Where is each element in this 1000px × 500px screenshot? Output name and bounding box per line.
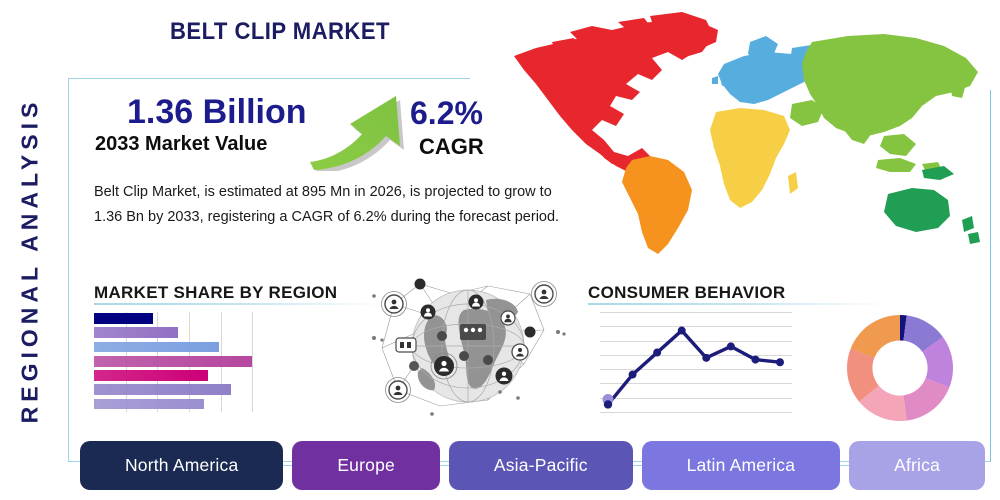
bar-chart-bar [94,342,219,353]
consumer-behavior-heading-rule [588,303,888,305]
tab-connector [840,465,849,467]
tab-connector [633,465,642,467]
bar-chart-bar-fill [94,356,252,367]
bar-chart-bar-fill [94,313,153,324]
page-title: BELT CLIP MARKET [170,18,390,46]
bar-chart-bar [94,356,252,367]
side-label-text: REGIONAL ANALYSIS [17,97,44,423]
tab-connector [440,465,449,467]
map-madagascar [788,172,798,194]
globe-network-icon [368,272,568,420]
map-se-asia [880,134,916,156]
region-tab-africa[interactable]: Africa [849,441,985,490]
consumer-behavior-heading: CONSUMER BEHAVIOR [588,283,785,303]
market-share-heading-rule [94,303,384,305]
region-tab-north-america[interactable]: North America [80,441,283,490]
map-region-australia [884,188,950,232]
region-tab-europe[interactable]: Europe [292,441,440,490]
kpi-row: 1.36 Billion 2033 Market Value 6.2% CAGR [95,93,525,163]
consumer-behavior-donut-chart [845,313,955,423]
market-share-bar-chart [94,312,284,412]
region-tab-label: Asia-Pacific [494,455,588,476]
region-tab-label: Europe [337,455,395,476]
region-tab-label: North America [125,455,238,476]
bar-chart-bar [94,399,204,410]
bar-chart-bar-fill [94,342,219,353]
bar-chart-bar-fill [94,384,231,395]
region-tab-latin-america[interactable]: Latin America [642,441,841,490]
bar-chart-bar-fill [94,370,208,381]
line-chart-gridline [600,412,792,413]
bar-chart-bar [94,384,231,395]
side-label-regional-analysis: REGIONAL ANALYSIS [0,60,60,460]
market-description: Belt Clip Market, is estimated at 895 Mn… [94,180,578,230]
market-value-number: 1.36 Billion [127,93,307,132]
bar-chart-bar [94,370,208,381]
region-tab-asia-pacific[interactable]: Asia-Pacific [449,441,633,490]
world-map-icon [492,8,997,273]
cagr-label: CAGR [419,134,484,160]
line-chart-series [600,312,792,412]
map-region-africa [710,108,790,208]
bar-chart-bar-fill [94,399,204,410]
consumer-behavior-line-chart [600,312,792,412]
cagr-number: 6.2% [410,95,483,132]
map-new-zealand [962,216,980,244]
market-share-heading: MARKET SHARE BY REGION [94,283,337,303]
bar-chart-gridline [252,312,253,412]
bar-chart-bar-fill [94,327,178,338]
region-tab-label: Latin America [687,455,796,476]
region-tabs: North AmericaEuropeAsia-PacificLatin Ame… [80,441,985,490]
region-tab-label: Africa [894,455,940,476]
tab-connector [283,465,292,467]
map-region-south-america [622,156,692,254]
bar-chart-bar [94,327,178,338]
growth-arrow-icon [300,86,420,171]
bar-chart-bar [94,313,153,324]
market-value-label: 2033 Market Value [95,133,267,156]
donut-chart-svg [845,313,955,423]
